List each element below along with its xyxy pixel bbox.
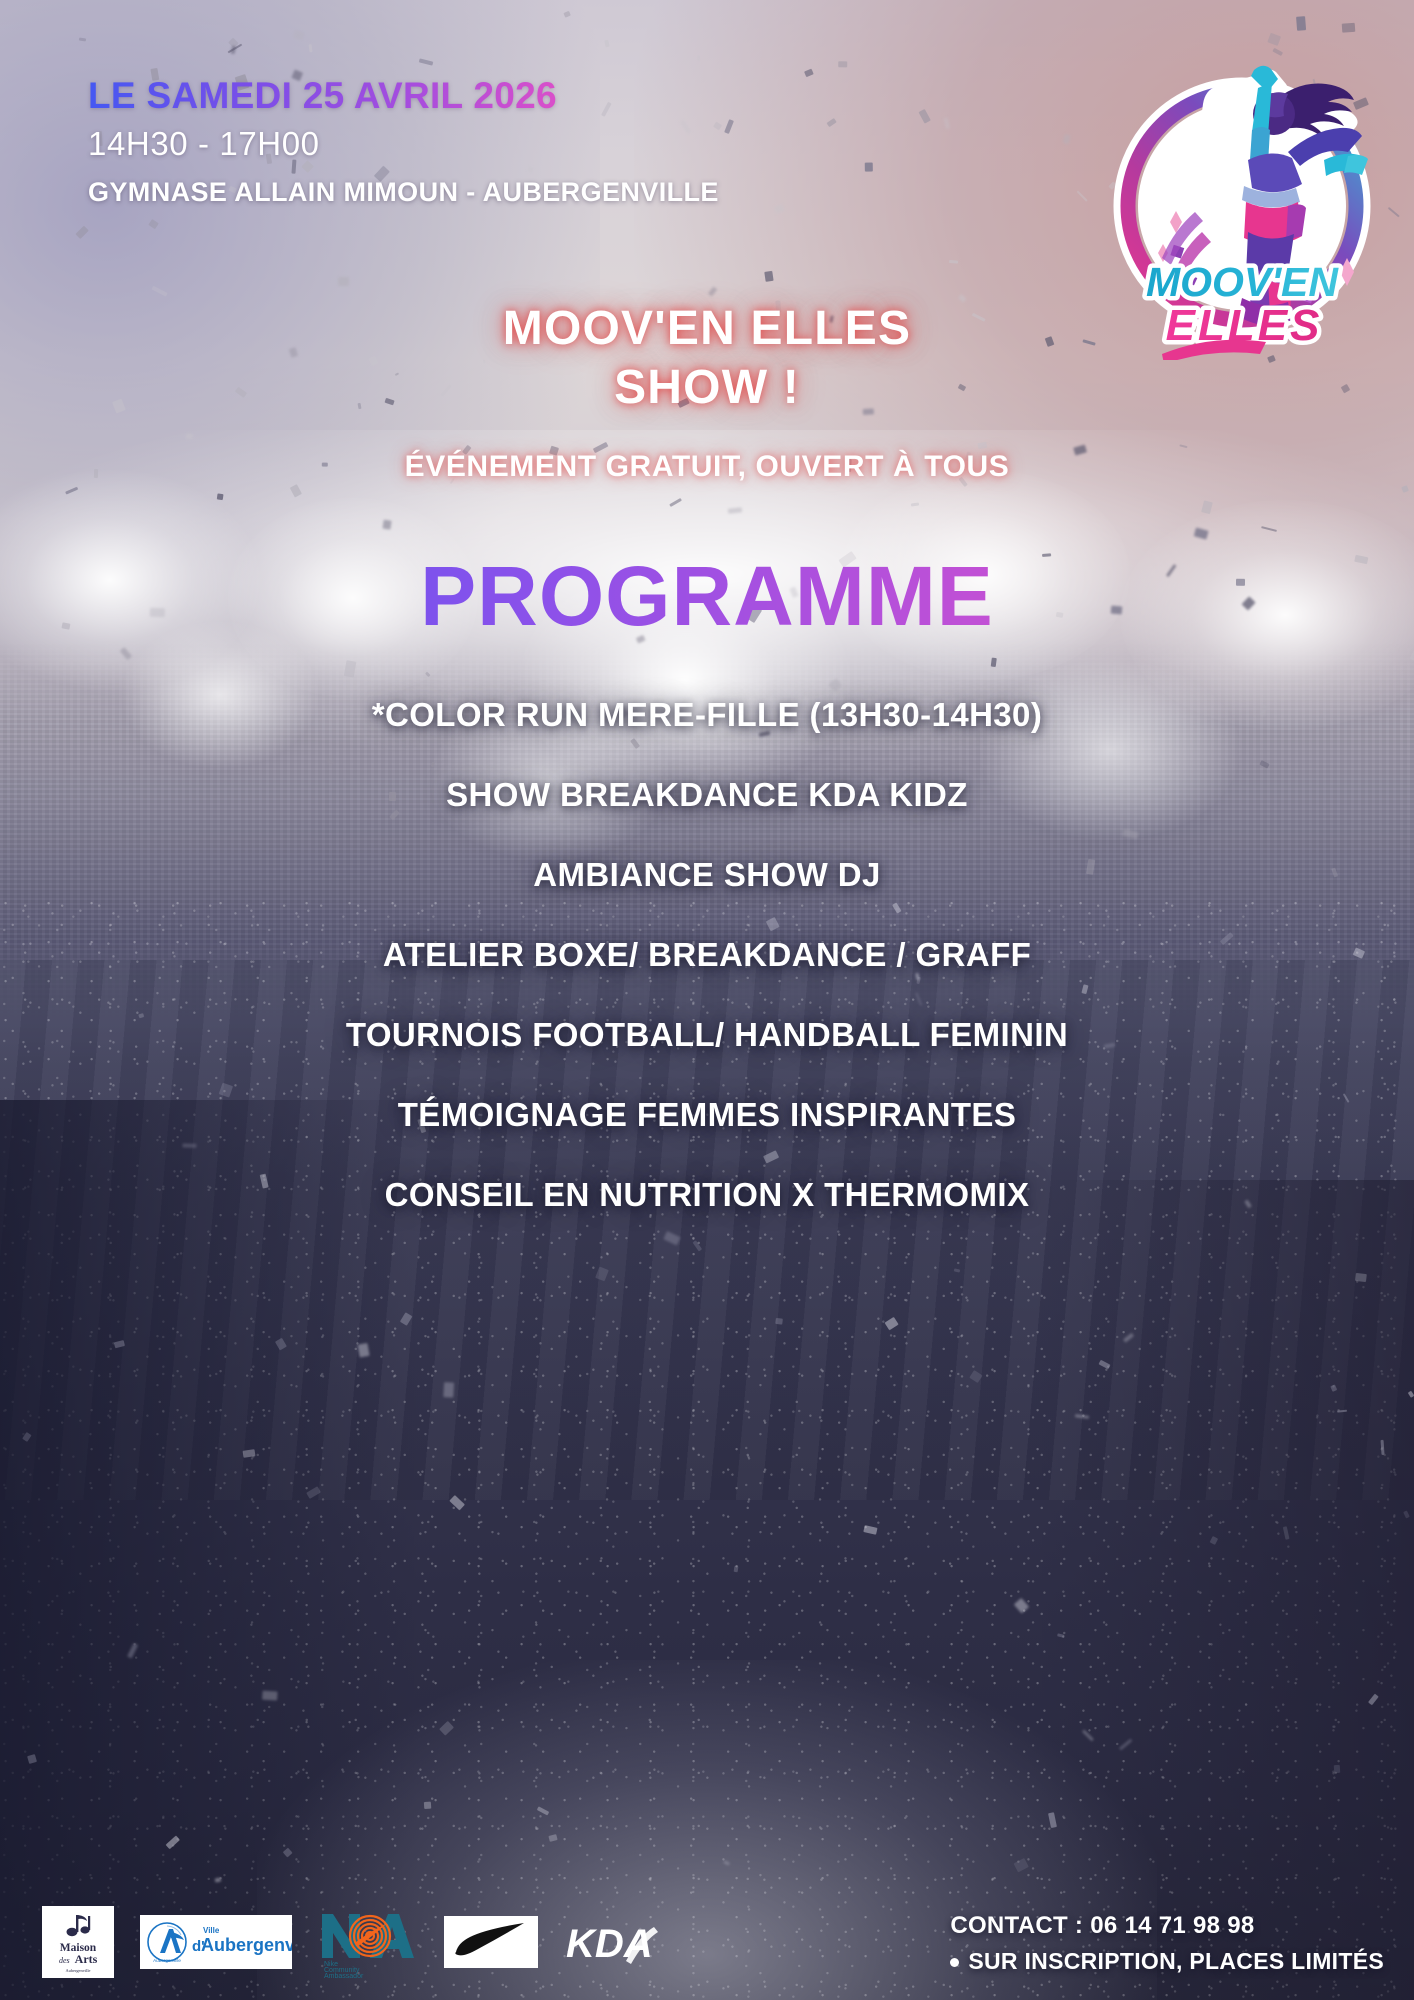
bullet-icon <box>950 1958 959 1967</box>
programme-item: SHOW BREAKDANCE KDA KIDZ <box>0 755 1414 835</box>
maison-line4: Aubergenville <box>65 1968 90 1973</box>
sponsor-ville-aubergenville: Aubergenville d' Ville Aubergenville <box>140 1915 292 1969</box>
programme-item: TOURNOIS FOOTBALL/ HANDBALL FEMININ <box>0 995 1414 1075</box>
programme-item: TÉMOIGNAGE FEMMES INSPIRANTES <box>0 1075 1414 1155</box>
event-date: LE SAMEDI 25 AVRIL 2026 <box>88 76 719 116</box>
event-header: LE SAMEDI 25 AVRIL 2026 14H30 - 17H00 GY… <box>88 76 719 208</box>
sponsor-kda: KDA <box>564 1911 660 1973</box>
event-title-line2: SHOW ! <box>0 359 1414 418</box>
maison-line2: des <box>59 1956 70 1965</box>
maison-line3: Arts <box>75 1952 98 1966</box>
nca-sub3: Ambassador <box>324 1973 364 1978</box>
poster-root: LE SAMEDI 25 AVRIL 2026 14H30 - 17H00 GY… <box>0 0 1414 2000</box>
programme-list: *COLOR RUN MERE-FILLE (13H30-14H30)SHOW … <box>0 675 1414 1235</box>
event-subtitle: ÉVÉNEMENT GRATUIT, OUVERT À TOUS <box>0 450 1414 484</box>
sponsor-nike <box>444 1916 538 1968</box>
sponsor-maison-des-arts: Maison des Arts Aubergenville <box>42 1906 114 1978</box>
event-title-block: MOOV'EN ELLES SHOW ! <box>0 300 1414 417</box>
contact-registration-text: SUR INSCRIPTION, PLACES LIMITÉS <box>968 1948 1384 1974</box>
sponsor-logos: Maison des Arts Aubergenville <box>42 1906 660 1978</box>
nca-logo: Nike Community Ambassador <box>318 1906 418 1978</box>
event-venue: GYMNASE ALLAIN MIMOUN - AUBERGENVILLE <box>88 177 719 208</box>
auberg-main: Aubergenville <box>201 1935 292 1955</box>
kda-logo: KDA <box>564 1911 660 1973</box>
event-title-line1: MOOV'EN ELLES <box>0 300 1414 359</box>
logo-word-top: MOOV'EN <box>1146 259 1339 305</box>
maison-des-arts-logo: Maison des Arts Aubergenville <box>42 1906 114 1978</box>
nike-swoosh-icon <box>444 1916 538 1968</box>
ville-aubergenville-logo: Aubergenville d' Ville Aubergenville <box>140 1915 292 1969</box>
programme-item: *COLOR RUN MERE-FILLE (13H30-14H30) <box>0 675 1414 755</box>
sponsor-nca: Nike Community Ambassador <box>318 1906 418 1978</box>
contact-block: CONTACT : 06 14 71 98 98 SUR INSCRIPTION… <box>950 1908 1384 1979</box>
event-time: 14H30 - 17H00 <box>88 125 719 163</box>
programme-item: AMBIANCE SHOW DJ <box>0 835 1414 915</box>
programme-item: ATELIER BOXE/ BREAKDANCE / GRAFF <box>0 915 1414 995</box>
contact-phone: CONTACT : 06 14 71 98 98 <box>950 1908 1384 1944</box>
contact-registration: SUR INSCRIPTION, PLACES LIMITÉS <box>950 1944 1384 1979</box>
auberg-ring-text: Aubergenville <box>153 1958 181 1963</box>
programme-item: CONSEIL EN NUTRITION X THERMOMIX <box>0 1155 1414 1235</box>
programme-heading: PROGRAMME <box>0 548 1414 645</box>
footer: Maison des Arts Aubergenville <box>0 1860 1414 2000</box>
auberg-small: Ville <box>203 1926 220 1935</box>
